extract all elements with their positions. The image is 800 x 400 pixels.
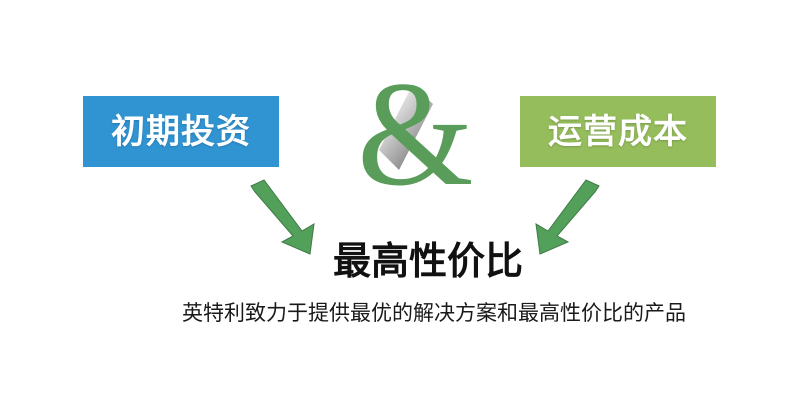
ampersand-symbol: & (357, 51, 474, 217)
concept-box-initial-investment[interactable]: 初期投资 (83, 96, 279, 167)
slide-canvas: 初期投资 & 运营成本 (0, 0, 800, 400)
concept-label-initial-investment: 初期投资 (111, 115, 251, 149)
ampersand-connector: & (345, 78, 475, 193)
ampersand-graphic: & (345, 78, 475, 193)
concept-box-operating-cost[interactable]: 运营成本 (520, 96, 716, 167)
result-heading: 最高性价比 (0, 241, 800, 284)
concept-label-operating-cost: 运营成本 (548, 115, 688, 149)
result-subtext: 英特利致力于提供最优的解决方案和最高性价比的产品 (0, 301, 800, 326)
